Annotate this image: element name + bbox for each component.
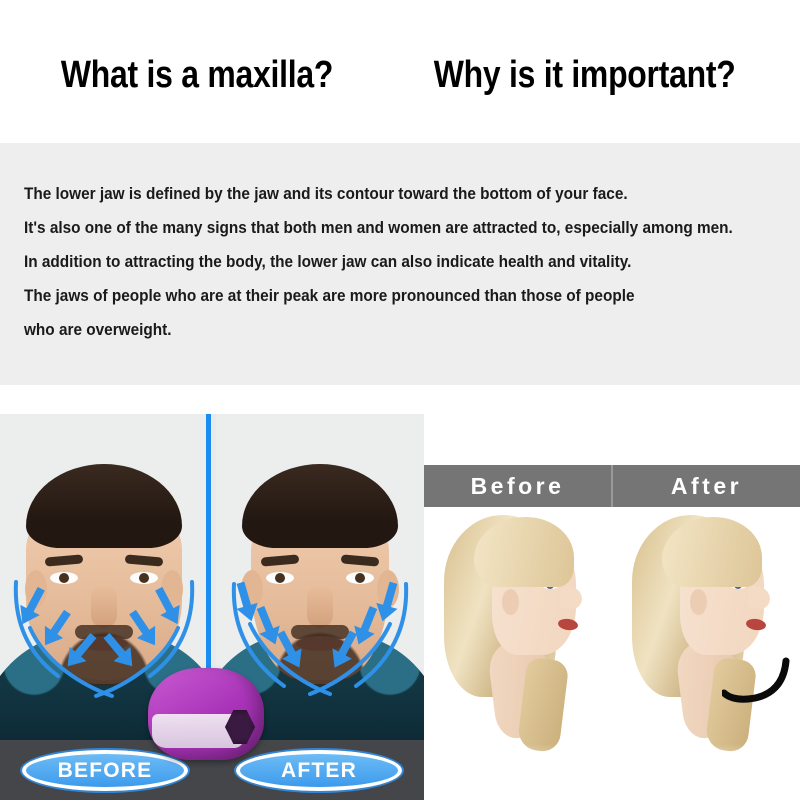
heading-question-2: Why is it important?: [434, 54, 736, 97]
product-infographic: What is a maxilla? Why is it important? …: [0, 0, 800, 800]
heading-question-1: What is a maxilla?: [61, 54, 333, 97]
after-badge-label: AFTER: [281, 759, 357, 783]
heading-band: What is a maxilla? Why is it important?: [0, 0, 800, 143]
hair: [242, 464, 398, 548]
female-after-label: After: [613, 465, 800, 507]
ear-right: [377, 570, 399, 608]
ear-left: [25, 570, 47, 608]
ear: [502, 589, 519, 615]
female-before-label: Before: [424, 465, 613, 507]
eye-left: [266, 572, 294, 584]
female-after-photo: [612, 507, 800, 800]
ear: [690, 589, 707, 615]
description-line: In addition to attracting the body, the …: [24, 245, 723, 279]
female-comparison-header: Before After: [424, 465, 800, 507]
nose: [747, 586, 771, 610]
ear-right: [161, 570, 183, 608]
female-photos-row: [424, 507, 800, 800]
female-comparison-panel: Before After: [424, 465, 800, 800]
nose: [91, 586, 117, 628]
female-after-profile: [618, 509, 794, 759]
female-before-photo: [424, 507, 612, 800]
description-line: The jaws of people who are at their peak…: [24, 279, 723, 313]
heading-row: What is a maxilla? Why is it important?: [35, 54, 764, 97]
before-badge-label: BEFORE: [58, 759, 153, 783]
comparison-section: BEFORE AFTER Before After: [0, 414, 800, 800]
nose: [307, 586, 333, 628]
jaw-exerciser-product: [148, 668, 264, 760]
jawline-contour-accent: [722, 657, 790, 709]
description-line: It's also one of the many signs that bot…: [24, 211, 723, 245]
female-before-profile: [430, 509, 606, 759]
ear-left: [241, 570, 263, 608]
eye-left: [50, 572, 78, 584]
bottom-fade: [612, 744, 800, 800]
hair: [26, 464, 182, 548]
nose: [559, 586, 583, 610]
description-line: who are overweight.: [24, 313, 723, 347]
eye-right: [346, 572, 374, 584]
male-comparison-panel: BEFORE AFTER: [0, 414, 424, 800]
eye-right: [130, 572, 158, 584]
description-line: The lower jaw is defined by the jaw and …: [24, 177, 723, 211]
description-panel: The lower jaw is defined by the jaw and …: [0, 143, 800, 385]
bottom-fade: [424, 744, 612, 800]
